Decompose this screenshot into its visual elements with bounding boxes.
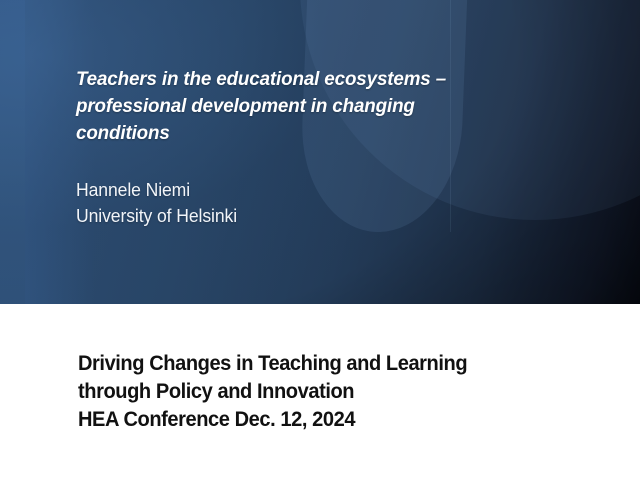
left-accent-band [0,0,25,304]
slide-title-line-2: professional development in changing [76,95,415,117]
presentation-slide: Teachers in the educational ecosystems –… [0,0,640,480]
hero-panel: Teachers in the educational ecosystems –… [0,0,640,304]
slide-title: Teachers in the educational ecosystems –… [76,66,578,147]
event-title-line-2: through Policy and Innovation [78,378,584,406]
footer-panel: Driving Changes in Teaching and Learning… [0,304,640,480]
event-title-line-1: Driving Changes in Teaching and Learning [78,350,584,378]
slide-title-line-1: Teachers in the educational ecosystems – [76,68,446,90]
slide-title-line-3: conditions [76,122,170,144]
footer-text-block: Driving Changes in Teaching and Learning… [78,350,608,434]
event-meta-line: HEA Conference Dec. 12, 2024 [78,406,584,434]
hero-text-block: Teachers in the educational ecosystems –… [76,66,596,229]
presenter-name: Hannele Niemi [76,177,570,203]
presenter-affiliation: University of Helsinki [76,203,570,229]
presenter-block: Hannele Niemi University of Helsinki [76,177,596,229]
